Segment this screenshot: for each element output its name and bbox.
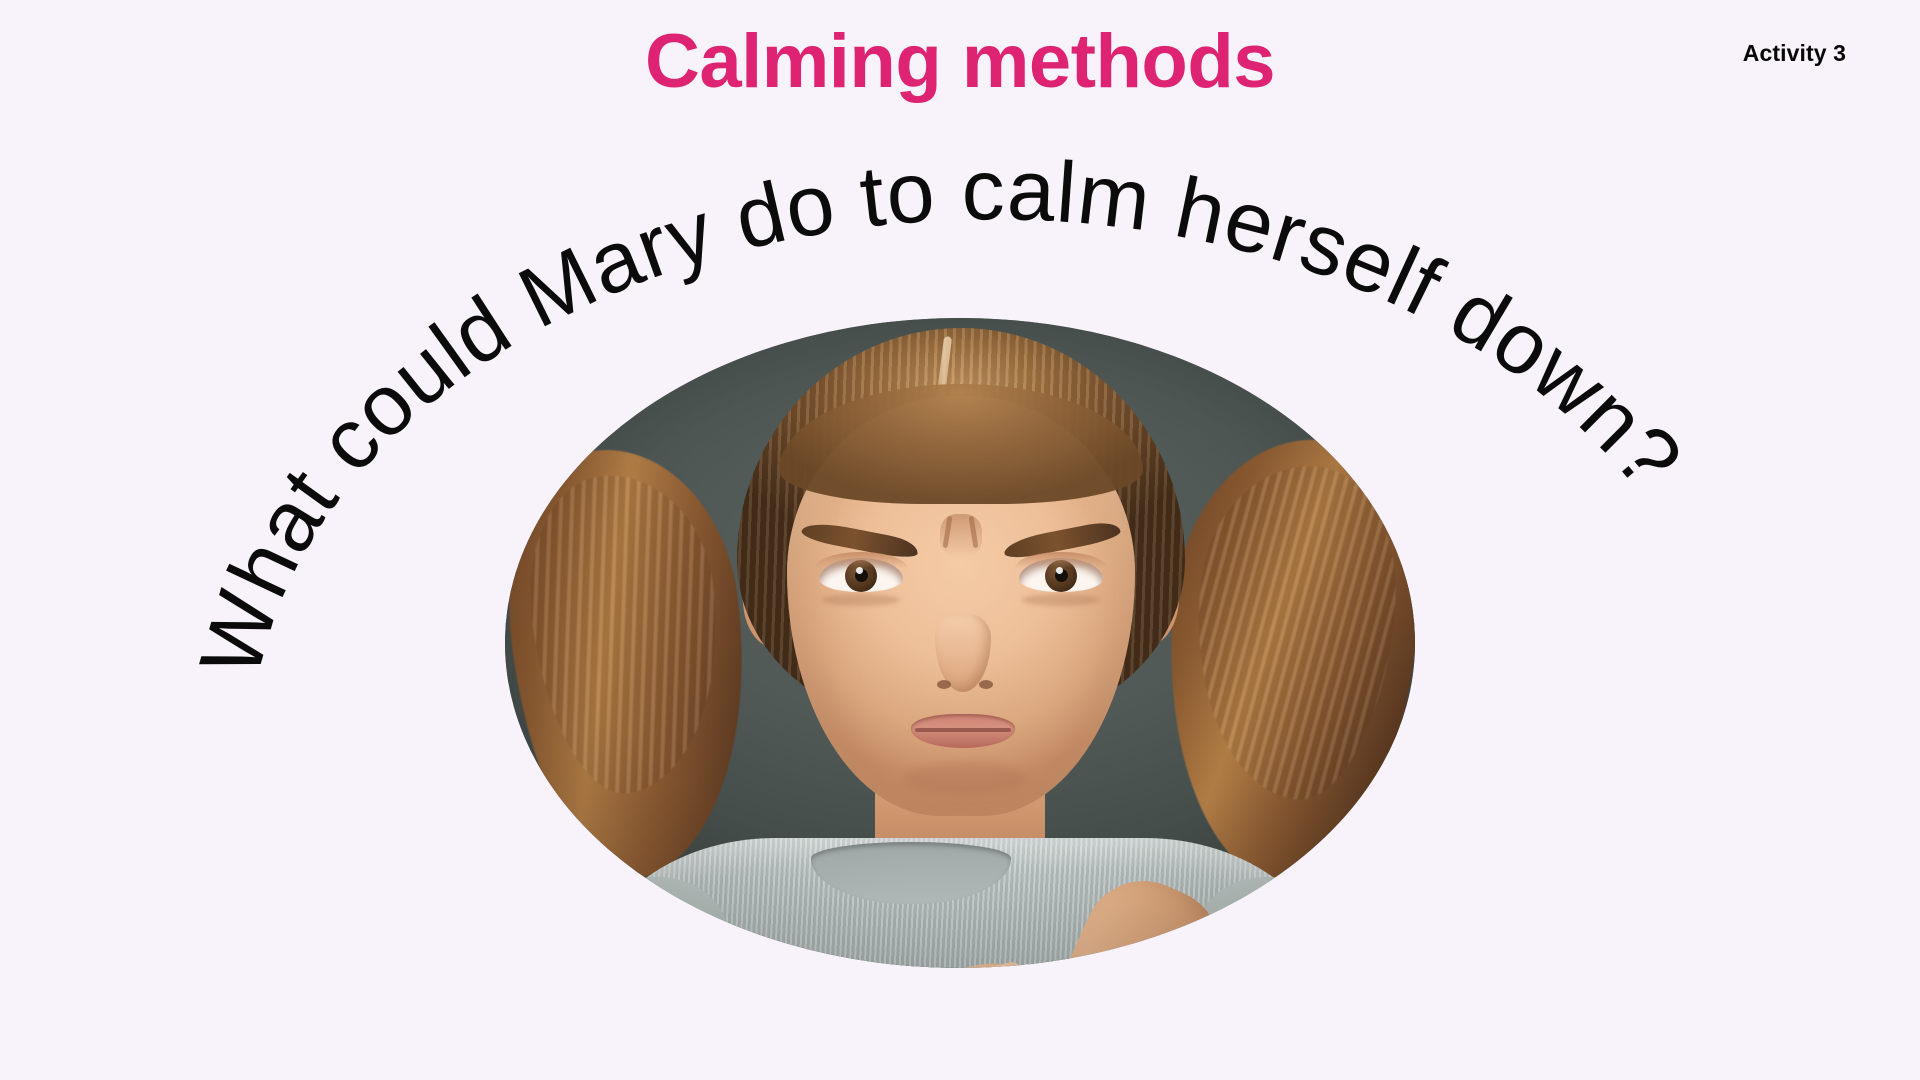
page-title: Calming methods [0,24,1920,100]
undereye-shadow-icon [822,594,900,606]
girl-photo [505,318,1415,968]
photo-backdrop [505,318,1415,968]
pigtail-right-icon [1145,426,1415,899]
pigtail-left-icon [505,436,770,891]
nostril-icon [979,680,993,689]
activity-label: Activity 3 [1743,40,1846,67]
undereye-shadow-icon [1022,594,1100,606]
chin-shadow-icon [903,762,1027,796]
lip-line-icon [915,728,1011,732]
slide-canvas: Calming methods Activity 3 [0,0,1920,1080]
nostril-icon [937,680,951,689]
